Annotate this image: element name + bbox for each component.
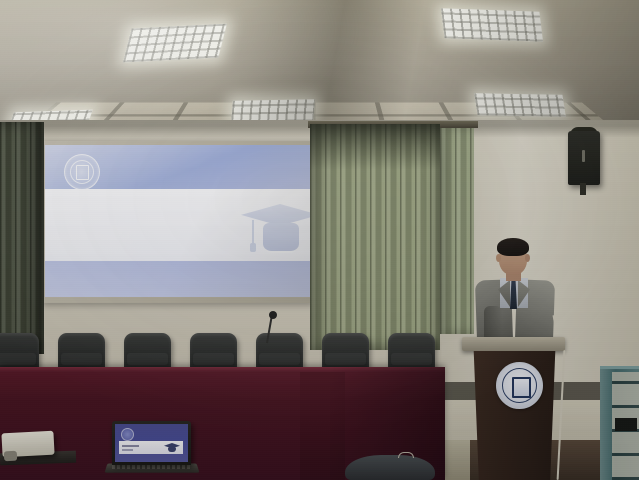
conference-chair bbox=[58, 333, 105, 371]
podium-top-ledge bbox=[462, 337, 565, 351]
tassel bbox=[252, 220, 254, 245]
laptop-graduation-cap-icon bbox=[164, 443, 180, 452]
podium-crest-icon bbox=[496, 362, 543, 409]
slide-top-band bbox=[45, 145, 311, 189]
laptop-slide-seal-icon bbox=[121, 428, 134, 441]
graduation-cap-icon bbox=[241, 204, 311, 260]
title-slide bbox=[45, 145, 311, 297]
ear-left bbox=[496, 254, 501, 262]
curtain-right bbox=[440, 128, 474, 334]
hair bbox=[497, 238, 529, 256]
curtain-top-shadow bbox=[310, 124, 440, 170]
conference-chair bbox=[256, 333, 303, 371]
laptop[interactable] bbox=[112, 421, 191, 465]
conference-chair bbox=[124, 333, 171, 371]
conference-chair bbox=[388, 333, 435, 371]
mortarboard-crown bbox=[263, 223, 299, 253]
projection-screen bbox=[42, 141, 314, 303]
speaker-slot bbox=[582, 150, 585, 162]
slide-bottom-band bbox=[45, 261, 311, 297]
lecture-hall-photo bbox=[0, 0, 639, 480]
bag-handle bbox=[398, 452, 414, 458]
shelf-label-plate bbox=[615, 418, 637, 431]
conference-chair bbox=[0, 333, 39, 371]
curtain-left bbox=[0, 122, 44, 354]
projector-lens-icon bbox=[4, 451, 18, 462]
microphone-head-icon bbox=[269, 311, 277, 319]
conference-chair bbox=[190, 333, 237, 371]
speaker-mount bbox=[580, 183, 586, 195]
ear-right bbox=[525, 254, 530, 262]
laptop-screen bbox=[115, 424, 188, 462]
university-seal-icon bbox=[64, 154, 100, 190]
laptop-mortarboard-crown bbox=[168, 447, 176, 452]
presenter bbox=[470, 236, 560, 346]
shoulder-bag bbox=[345, 455, 435, 480]
conference-chair bbox=[322, 333, 369, 371]
laptop-slide-sub-text bbox=[122, 449, 133, 451]
laptop-slide-title-text bbox=[122, 445, 139, 447]
